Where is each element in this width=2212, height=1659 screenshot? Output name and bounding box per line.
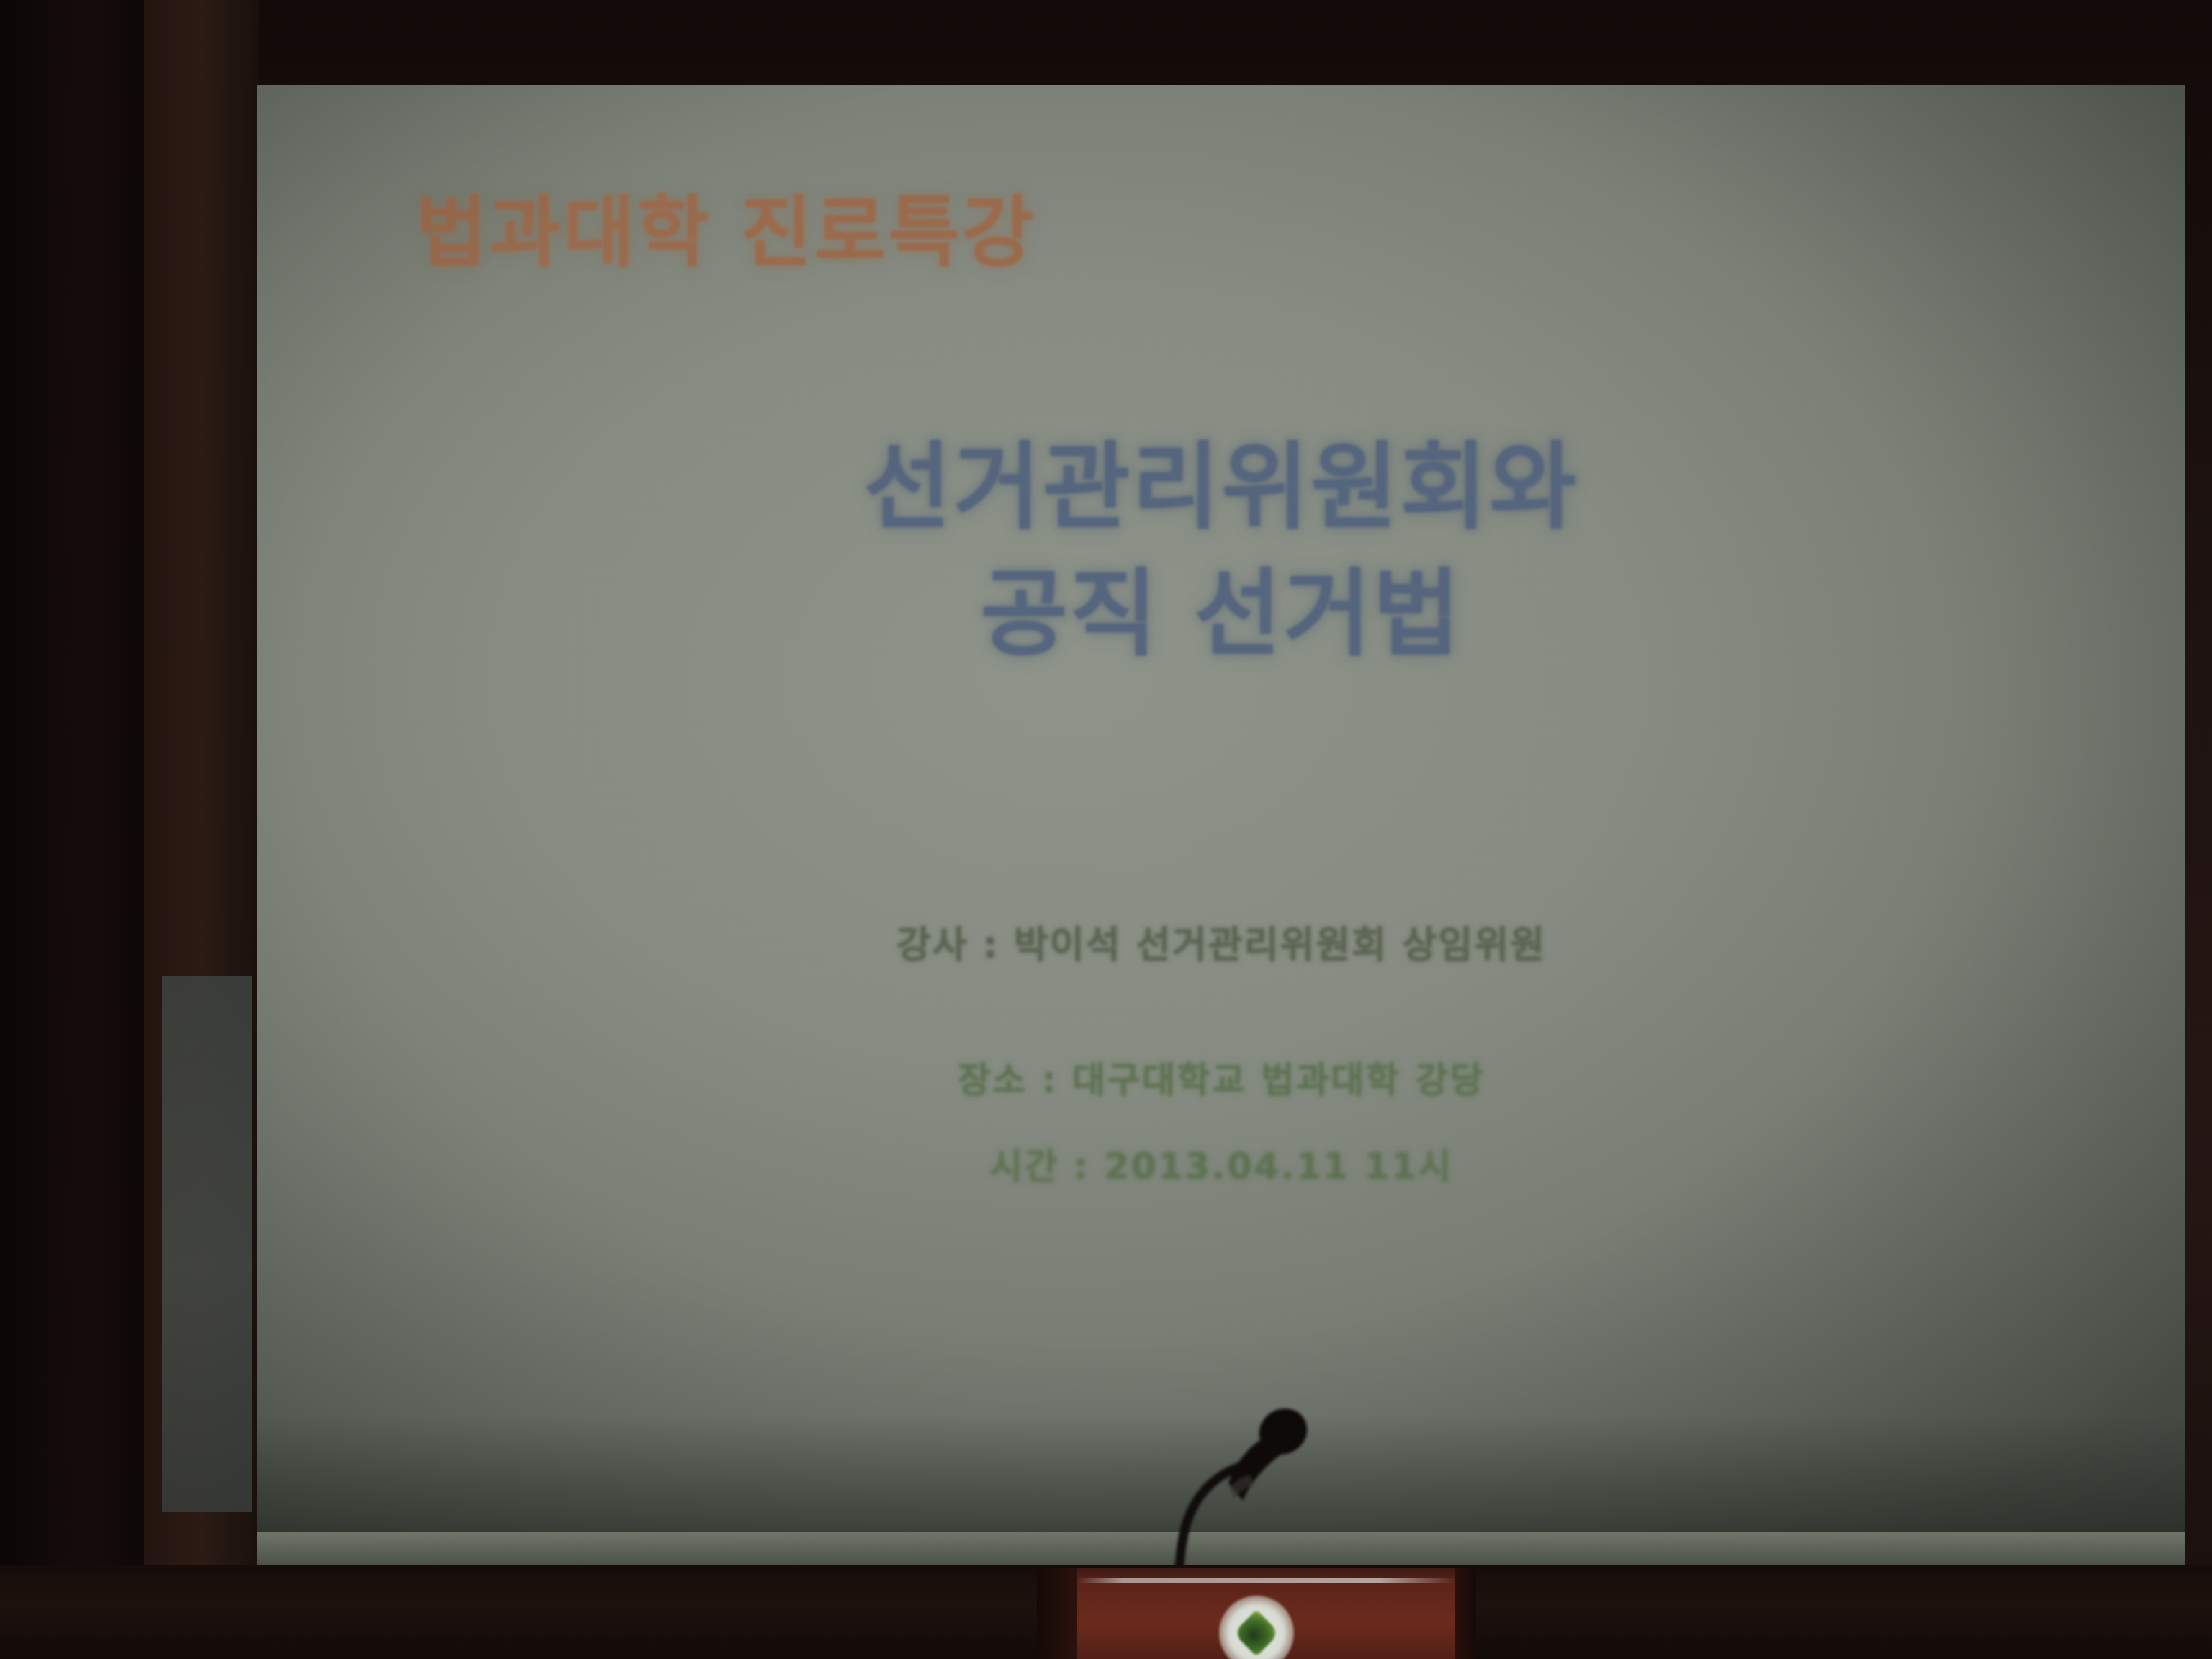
podium [1037, 1568, 1476, 1659]
photo-scene: 법과대학 진로특강 선거관리위원회와 공직 선거법 강사 : 박이석 선거관리위… [0, 0, 2212, 1659]
slide-time-line: 시간 : 2013.04.11 11시 [257, 1138, 2185, 1190]
screen-bottom-trim [257, 1532, 2185, 1565]
slide-title-line-1: 선거관리위원회와 [257, 410, 2185, 548]
slide-content: 법과대학 진로특강 선거관리위원회와 공직 선거법 강사 : 박이석 선거관리위… [257, 85, 2185, 1565]
leaf-emblem-icon [1219, 1596, 1294, 1659]
slide-kicker: 법과대학 진로특강 [415, 170, 1036, 282]
leaf-emblem-shape [1233, 1609, 1280, 1656]
slide-title-line-2: 공직 선거법 [257, 537, 2185, 675]
podium-right-seam [1455, 1568, 1476, 1659]
projection-screen: 법과대학 진로특강 선거관리위원회와 공직 선거법 강사 : 박이석 선거관리위… [257, 85, 2185, 1565]
wall-left-panel [0, 0, 144, 1659]
slide-venue-line: 장소 : 대구대학교 법과대학 강당 [257, 1051, 2185, 1103]
wall-plate [162, 976, 252, 1512]
podium-left-seam [1037, 1568, 1077, 1659]
podium-edge-highlight [1077, 1578, 1456, 1583]
slide-speaker-line: 강사 : 박이석 선거관리위원회 상임위원 [257, 914, 2185, 968]
